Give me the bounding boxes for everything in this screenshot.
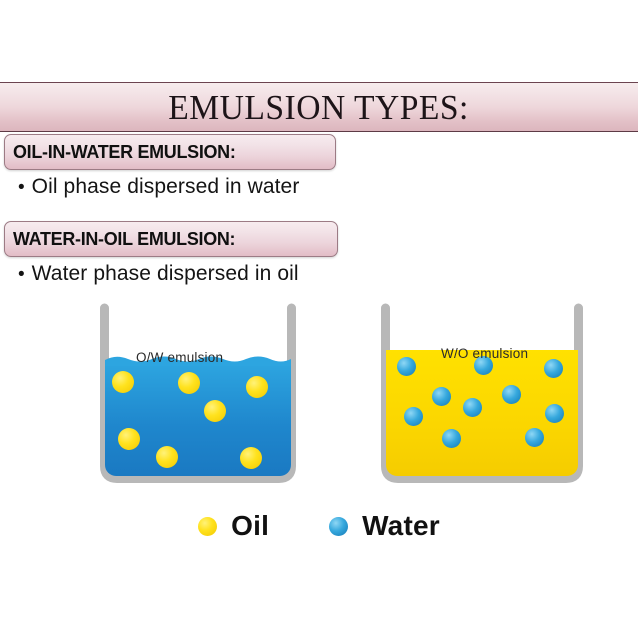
droplet-water [463,398,482,417]
bullet-water-in-oil: • Water phase dispersed in oil [18,262,299,286]
bullet-text-water-in-oil: Water phase dispersed in oil [32,262,299,286]
droplet-oil [112,371,134,393]
droplet-oil [156,446,178,468]
droplet-water [397,357,416,376]
droplet-water [442,429,461,448]
legend-label-oil: Oil [231,510,269,542]
beaker-label-water-in-oil: W/O emulsion [441,346,528,361]
circle-swatch-icon-oil [198,517,217,536]
beaker-oil-in-water: O/W emulsion [100,308,296,483]
slide-title-banner: EMULSION TYPES: [0,82,638,132]
droplet-water [432,387,451,406]
beaker-fluid-oil [386,350,578,476]
droplet-oil [246,376,268,398]
bullet-marker-icon: • [18,265,25,284]
droplet-oil [240,447,262,469]
bullet-text-oil-in-water: Oil phase dispersed in water [32,175,300,199]
heading-label-water-in-oil: WATER-IN-OIL EMULSION: [13,228,235,250]
droplet-water [525,428,544,447]
droplet-water [502,385,521,404]
droplet-water [545,404,564,423]
heading-chip-oil-in-water: OIL-IN-WATER EMULSION: [4,134,336,170]
beaker-label-oil-in-water: O/W emulsion [136,350,223,365]
droplet-oil [178,372,200,394]
bullet-marker-icon: • [18,178,25,197]
circle-swatch-icon-water [329,517,348,536]
legend-item-oil: Oil [198,510,269,542]
beaker-water-in-oil: W/O emulsion [381,308,583,483]
heading-chip-water-in-oil: WATER-IN-OIL EMULSION: [4,221,338,257]
legend-item-water: Water [329,510,440,542]
legend: Oil Water [0,505,638,547]
page-title: EMULSION TYPES: [169,90,470,125]
legend-label-water: Water [362,510,440,542]
droplet-water [404,407,423,426]
droplet-water [544,359,563,378]
beaker-fluid-water [105,363,291,476]
droplet-oil [118,428,140,450]
heading-label-oil-in-water: OIL-IN-WATER EMULSION: [13,141,236,163]
bullet-oil-in-water: • Oil phase dispersed in water [18,175,299,199]
droplet-oil [204,400,226,422]
